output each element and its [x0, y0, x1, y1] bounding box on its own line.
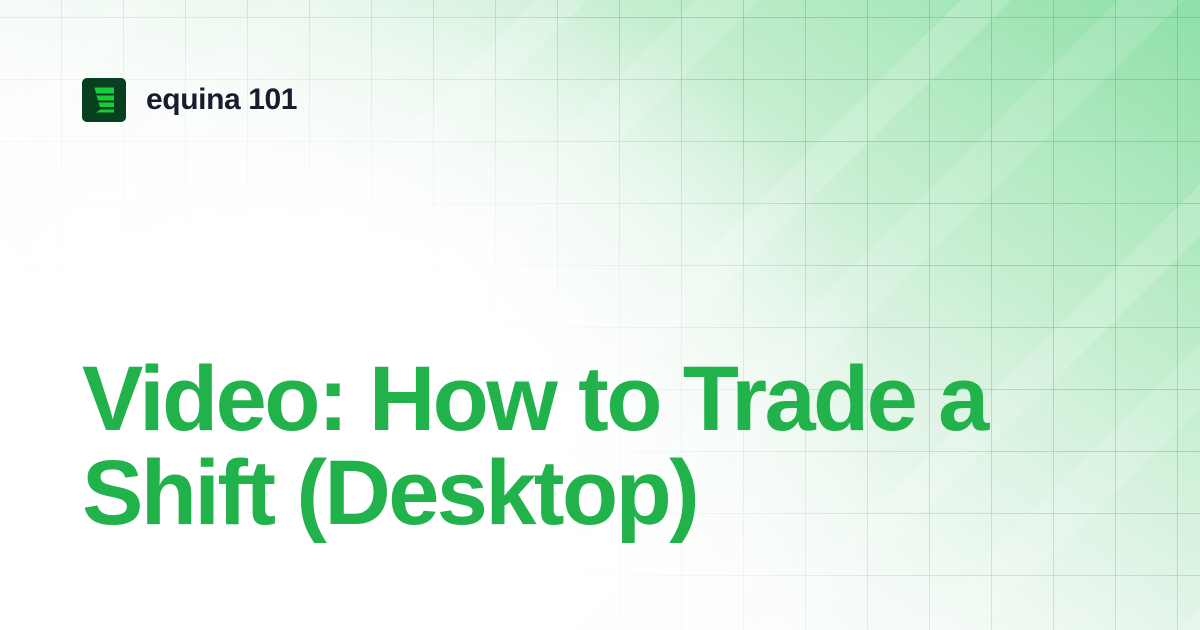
page-title: Video: How to Trade a Shift (Desktop) — [82, 352, 1082, 540]
page-title-line-1: Video: How to Trade a — [82, 352, 1082, 446]
equina-logo-icon — [82, 78, 126, 122]
brand-name: equina 101 — [146, 85, 297, 115]
share-card-canvas: equina 101 Video: How to Trade a Shift (… — [0, 0, 1200, 630]
card-content: equina 101 Video: How to Trade a Shift (… — [0, 0, 1200, 630]
page-title-line-2: Shift (Desktop) — [82, 446, 1082, 540]
brand-lockup: equina 101 — [82, 78, 297, 122]
